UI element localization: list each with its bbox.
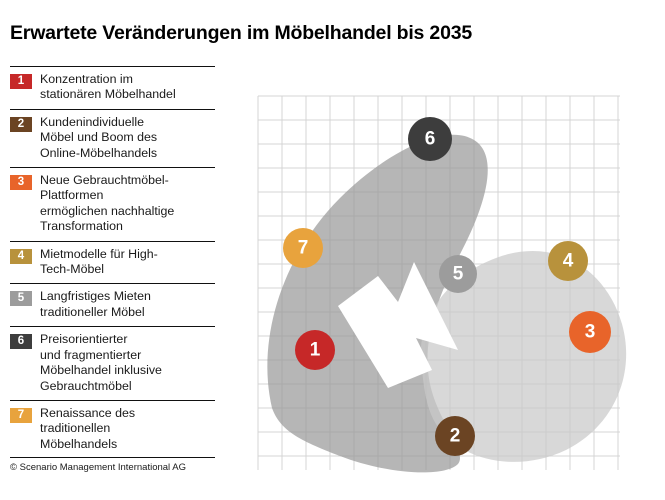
legend-label-line: Online-Möbelhandels xyxy=(40,146,215,161)
legend-label-line: Möbelhandel inklusive xyxy=(40,363,215,378)
marker-label-3: 3 xyxy=(585,322,596,343)
legend-label-line: Plattformen xyxy=(40,188,215,203)
legend-label-line: Preisorientierter xyxy=(40,332,215,347)
legend-badge-2: 2 xyxy=(10,117,32,132)
chart-marker-5[interactable]: 5 xyxy=(439,255,477,293)
chart-marker-3[interactable]: 3 xyxy=(569,311,611,353)
legend-label-line: Möbelhandels xyxy=(40,437,215,452)
marker-label-2: 2 xyxy=(450,426,461,447)
legend-label-line: ermöglichen nachhaltige xyxy=(40,204,215,219)
legend-label-7: Renaissance destraditionellenMöbelhandel… xyxy=(40,406,215,452)
marker-label-4: 4 xyxy=(563,251,574,272)
legend-label-line: stationären Möbelhandel xyxy=(40,87,215,102)
chart-marker-2[interactable]: 2 xyxy=(435,416,475,456)
legend-badge-1: 1 xyxy=(10,74,32,89)
legend-item-4[interactable]: 4Mietmodelle für High-Tech-Möbel xyxy=(10,241,215,284)
chart-marker-4[interactable]: 4 xyxy=(548,241,588,281)
legend-item-6[interactable]: 6Preisorientierterund fragmentierterMöbe… xyxy=(10,326,215,400)
legend-label-line: und fragmentierter xyxy=(40,348,215,363)
legend-badge-7: 7 xyxy=(10,408,32,423)
legend-label-line: Konzentration im xyxy=(40,72,215,87)
scenario-chart: 1234567 xyxy=(236,78,656,478)
legend-label-4: Mietmodelle für High-Tech-Möbel xyxy=(40,247,215,278)
legend-item-1[interactable]: 1Konzentration imstationären Möbelhandel xyxy=(10,66,215,109)
legend-label-line: Langfristiges Mieten xyxy=(40,289,215,304)
chart-marker-1[interactable]: 1 xyxy=(295,330,335,370)
legend-label-line: Transformation xyxy=(40,219,215,234)
legend-label-2: KundenindividuelleMöbel und Boom desOnli… xyxy=(40,115,215,161)
legend-badge-3: 3 xyxy=(10,175,32,190)
legend-item-2[interactable]: 2KundenindividuelleMöbel und Boom desOnl… xyxy=(10,109,215,167)
chart-marker-7[interactable]: 7 xyxy=(283,228,323,268)
legend-item-7[interactable]: 7Renaissance destraditionellenMöbelhande… xyxy=(10,400,215,458)
footer: © Scenario Management International AG xyxy=(10,457,215,473)
legend-label-5: Langfristiges Mietentraditioneller Möbel xyxy=(40,289,215,320)
marker-label-6: 6 xyxy=(425,129,436,150)
marker-label-1: 1 xyxy=(310,340,321,361)
legend-label-line: Möbel und Boom des xyxy=(40,130,215,145)
legend-badge-5: 5 xyxy=(10,291,32,306)
legend-badge-6: 6 xyxy=(10,334,32,349)
legend-label-line: Neue Gebrauchtmöbel- xyxy=(40,173,215,188)
infographic-page: Erwartete Veränderungen im Möbelhandel b… xyxy=(0,0,665,500)
legend-item-5[interactable]: 5Langfristiges Mietentraditioneller Möbe… xyxy=(10,283,215,326)
legend-label-line: Mietmodelle für High- xyxy=(40,247,215,262)
chart-marker-6[interactable]: 6 xyxy=(408,117,452,161)
legend-label-line: traditionellen xyxy=(40,421,215,436)
legend-item-3[interactable]: 3Neue Gebrauchtmöbel-Plattformenermöglic… xyxy=(10,167,215,241)
page-title: Erwartete Veränderungen im Möbelhandel b… xyxy=(10,22,472,45)
legend-label-1: Konzentration imstationären Möbelhandel xyxy=(40,72,215,103)
legend-label-line: Renaissance des xyxy=(40,406,215,421)
legend-list: 1Konzentration imstationären Möbelhandel… xyxy=(10,66,215,458)
copyright-text: © Scenario Management International AG xyxy=(10,462,215,473)
legend-label-line: Gebrauchtmöbel xyxy=(40,379,215,394)
legend-label-line: Tech-Möbel xyxy=(40,262,215,277)
marker-label-5: 5 xyxy=(453,264,464,285)
legend-label-6: Preisorientierterund fragmentierterMöbel… xyxy=(40,332,215,394)
legend-badge-4: 4 xyxy=(10,249,32,264)
marker-label-7: 7 xyxy=(298,238,309,259)
legend-label-line: Kundenindividuelle xyxy=(40,115,215,130)
legend-label-3: Neue Gebrauchtmöbel-Plattformenermöglich… xyxy=(40,173,215,235)
legend-label-line: traditioneller Möbel xyxy=(40,305,215,320)
